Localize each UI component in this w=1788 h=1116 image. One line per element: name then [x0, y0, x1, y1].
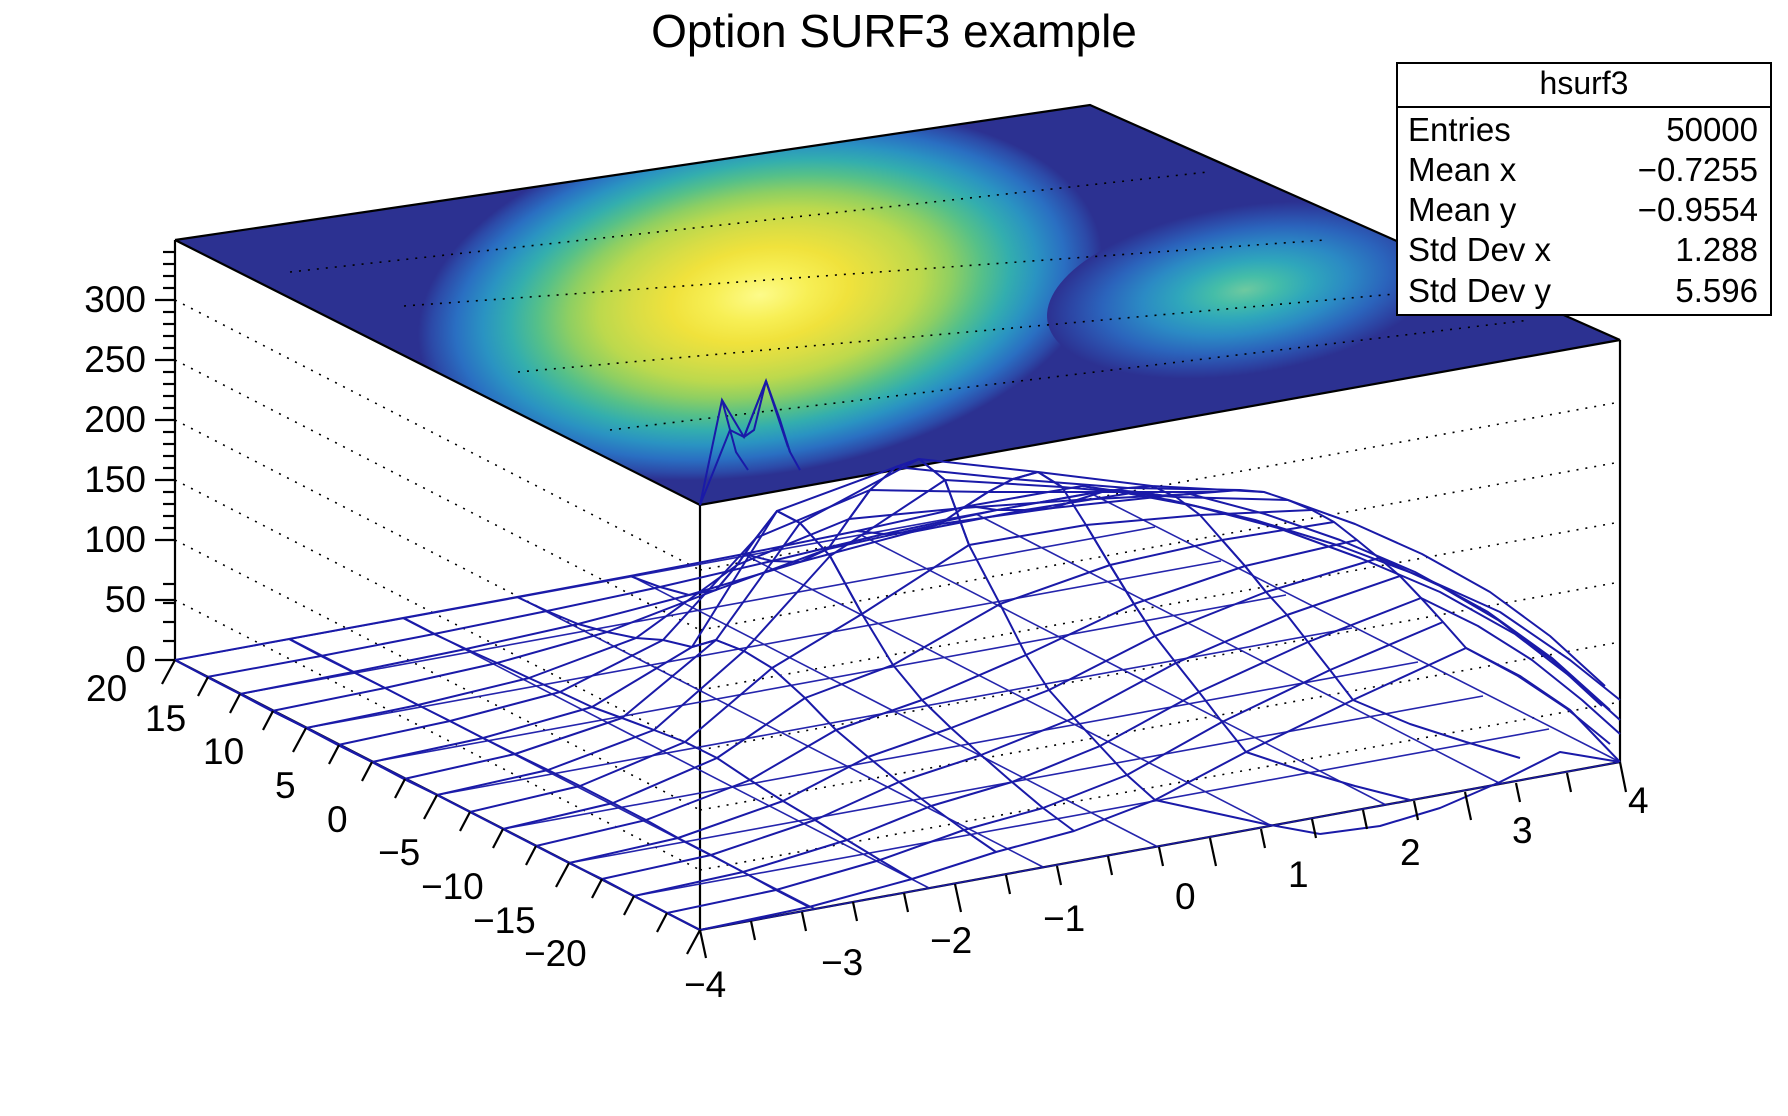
- x-tick-label-minus2: −2: [930, 922, 972, 959]
- stats-box: hsurf3 Entries 50000 Mean x −0.7255 Mean…: [1396, 62, 1772, 316]
- stats-value: −0.9554: [1638, 190, 1758, 230]
- y-tick-label-0: 0: [327, 801, 348, 838]
- stats-row: Mean x −0.7255: [1398, 150, 1770, 190]
- x-tick-label-0: 0: [1175, 878, 1196, 915]
- stats-label: Std Dev x: [1408, 230, 1551, 270]
- root-canvas: Option SURF3 example hsurf3 Entries 5000…: [0, 0, 1788, 1116]
- stats-label: Mean y: [1408, 190, 1516, 230]
- z-tick-label-200: 200: [56, 401, 146, 438]
- stats-row: Std Dev x 1.288: [1398, 230, 1770, 270]
- x-tick-label-2: 2: [1400, 834, 1421, 871]
- stats-row: Mean y −0.9554: [1398, 190, 1770, 230]
- stats-row: Std Dev y 5.596: [1398, 271, 1770, 311]
- stats-row: Entries 50000: [1398, 110, 1770, 150]
- y-tick-label-5: 5: [275, 767, 296, 804]
- x-tick-label-1: 1: [1288, 856, 1309, 893]
- y-tick-label-10: 10: [203, 733, 244, 770]
- y-tick-label-minus20: −20: [524, 935, 587, 972]
- x-tick-label-minus1: −1: [1043, 900, 1085, 937]
- stats-box-rows: Entries 50000 Mean x −0.7255 Mean y −0.9…: [1398, 108, 1770, 314]
- x-tick-label-4: 4: [1628, 782, 1649, 819]
- x-axis-ticks: [700, 762, 1626, 958]
- stats-label: Entries: [1408, 110, 1511, 150]
- stats-box-title: hsurf3: [1398, 64, 1770, 108]
- y-tick-label-minus5: −5: [378, 834, 420, 871]
- z-tick-label-100: 100: [56, 521, 146, 558]
- z-tick-label-50: 50: [56, 581, 146, 618]
- stats-value: 50000: [1666, 110, 1758, 150]
- page-title: Option SURF3 example: [0, 4, 1788, 58]
- stats-value: 1.288: [1675, 230, 1758, 270]
- y-tick-label-15: 15: [145, 700, 186, 737]
- z-tick-label-250: 250: [56, 341, 146, 378]
- x-tick-label-3: 3: [1512, 812, 1533, 849]
- z-tick-label-300: 300: [56, 281, 146, 318]
- x-tick-label-minus4: −4: [684, 966, 726, 1003]
- y-tick-label-20: 20: [86, 670, 127, 707]
- x-tick-label-minus3: −3: [821, 944, 863, 981]
- stats-label: Std Dev y: [1408, 271, 1551, 311]
- stats-label: Mean x: [1408, 150, 1516, 190]
- stats-value: −0.7255: [1638, 150, 1758, 190]
- stats-value: 5.596: [1675, 271, 1758, 311]
- z-tick-label-150: 150: [56, 461, 146, 498]
- z-axis-ticks: [155, 252, 175, 660]
